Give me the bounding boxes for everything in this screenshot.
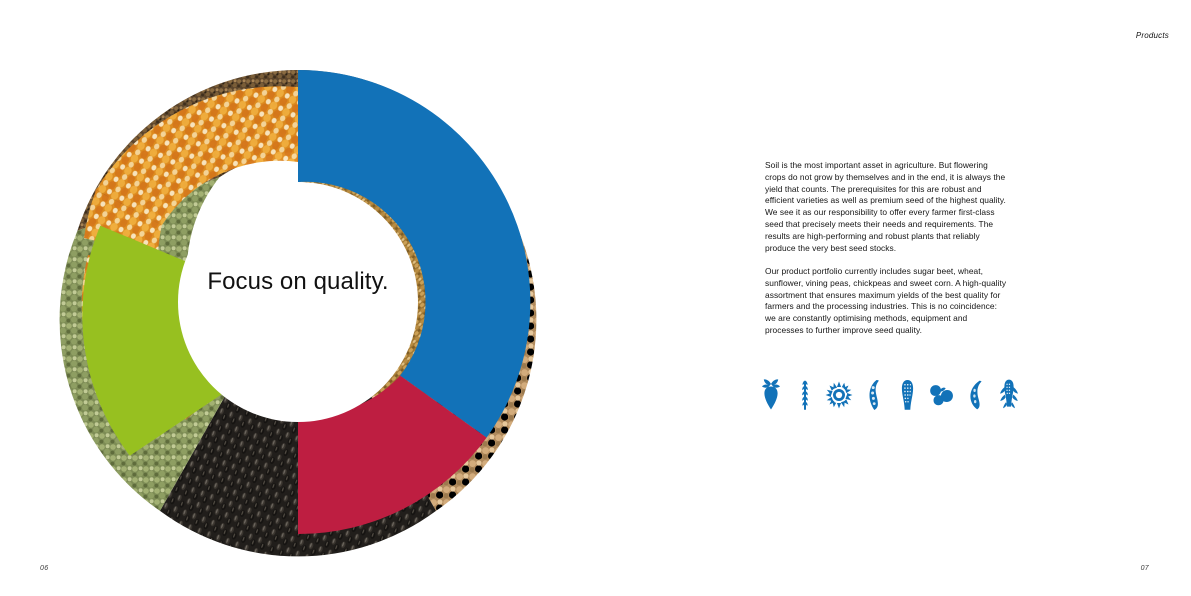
quality-donut-chart	[66, 70, 530, 534]
chickpea-icon	[927, 376, 955, 414]
body-copy-block: Soil is the most important asset in agri…	[765, 160, 1008, 337]
folio-right: 07	[1141, 565, 1149, 572]
sunflower-icon	[825, 376, 853, 414]
wheat-ear-icon	[791, 376, 819, 414]
body-paragraph-2: Our product portfolio currently includes…	[765, 266, 1008, 337]
body-paragraph-1: Soil is the most important asset in agri…	[765, 160, 1008, 254]
donut-center-hole	[178, 182, 418, 422]
crop-icon-row	[757, 375, 1032, 415]
pea-pod-icon	[859, 376, 887, 414]
sugar-beet-icon	[757, 376, 785, 414]
corn-cob-icon	[893, 376, 921, 414]
bean-pod-icon	[961, 376, 989, 414]
magazine-spread: Products	[0, 0, 1191, 596]
folio-left: 06	[40, 565, 48, 572]
sweet-corn-icon	[995, 376, 1023, 414]
page-header-products: Products	[1136, 31, 1169, 40]
